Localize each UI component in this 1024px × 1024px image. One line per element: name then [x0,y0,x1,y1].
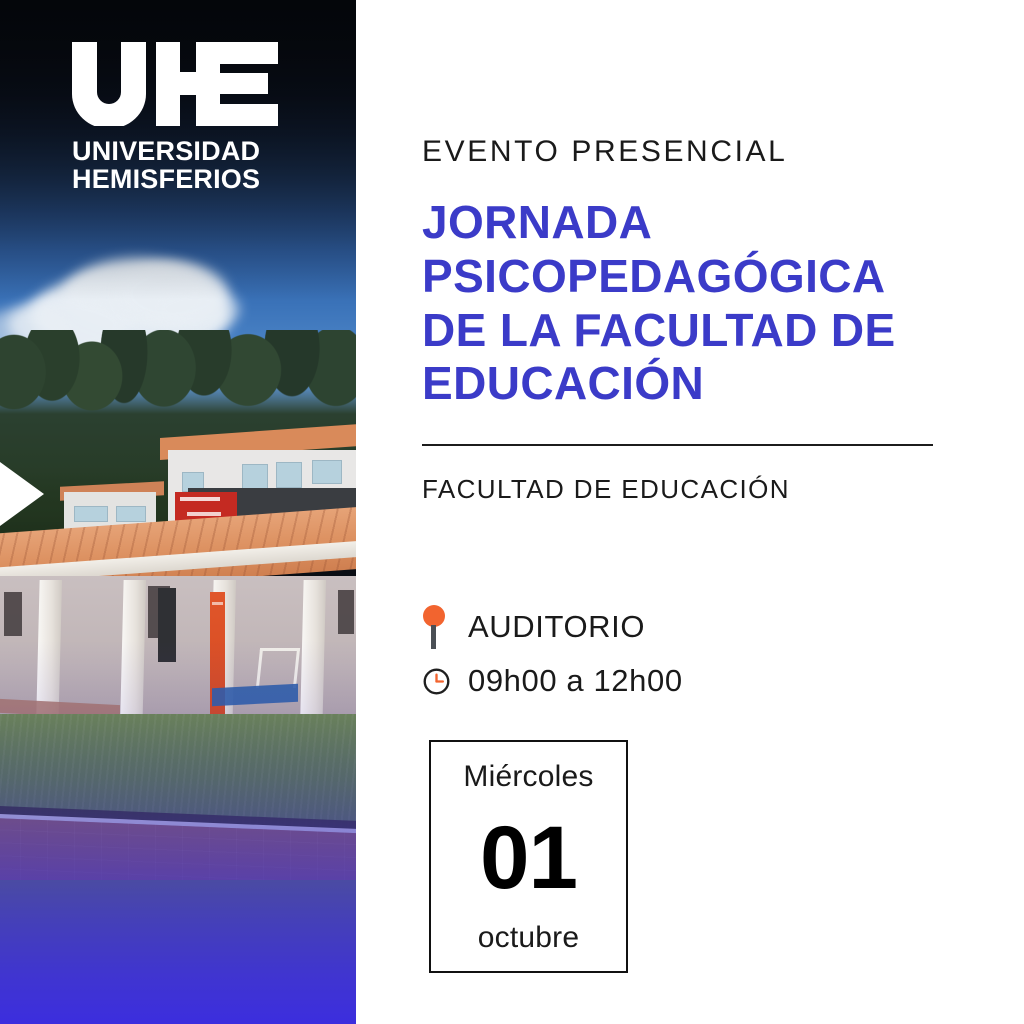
university-name-line2: HEMISFERIOS [72,166,302,194]
clock-icon [422,667,468,696]
university-name-line1: UNIVERSIDAD [72,138,302,166]
banner-text-bar [187,512,221,516]
university-name: UNIVERSIDAD HEMISFERIOS [72,138,302,193]
event-subtitle: FACULTAD DE EDUCACIÓN [422,474,790,505]
event-title: JORNADA PSICOPEDAGÓGICA DE LA FACULTAD D… [422,196,940,411]
window [312,460,342,484]
window [116,506,146,522]
date-day-number: 01 [480,815,577,900]
event-time-row: 09h00 a 12h00 [422,654,942,708]
purple-gradient-overlay [0,640,356,1024]
event-kicker: EVENTO PRESENCIAL [422,135,787,169]
event-meta-list: AUDITORIO 09h00 a 12h00 [422,600,942,708]
wall-bay [338,590,354,634]
uhe-wordmark-logo-icon [72,42,278,126]
window [242,464,268,490]
wall-bay [4,592,22,636]
event-location-row: AUDITORIO [422,600,942,654]
event-details-column: EVENTO PRESENCIAL JORNADA PSICOPEDAGÓGIC… [422,0,982,1024]
campus-photo-panel: UNIVERSIDAD HEMISFERIOS [0,0,356,1024]
date-weekday: Miércoles [463,760,593,794]
window [276,462,302,488]
event-poster: UNIVERSIDAD HEMISFERIOS EVENTO PRESENCIA… [0,0,1024,1024]
event-location-label: AUDITORIO [468,609,645,645]
event-time-label: 09h00 a 12h00 [468,663,683,699]
date-month: octubre [478,921,579,955]
play-triangle-notch-icon [0,462,44,526]
location-pin-icon [422,605,468,649]
university-logo: UNIVERSIDAD HEMISFERIOS [72,42,302,193]
window [74,506,108,522]
title-divider [422,444,933,446]
banner-logo-bar [180,497,220,501]
event-date-card: Miércoles 01 octubre [429,740,628,973]
